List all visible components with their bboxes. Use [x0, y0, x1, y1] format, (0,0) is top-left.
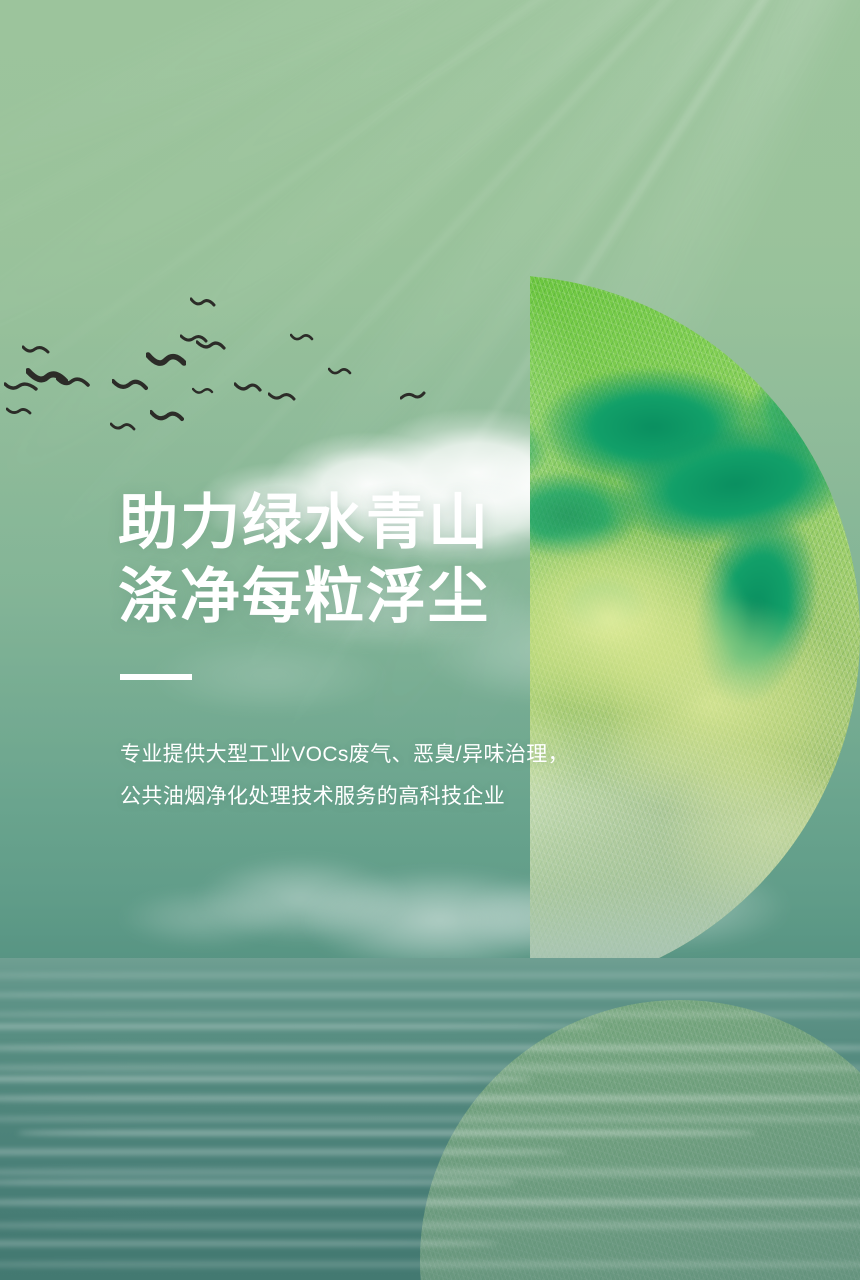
water-ripple — [0, 1114, 860, 1124]
globe-reflection — [420, 1000, 860, 1280]
subtitle-line-2: 公共油烟净化处理技术服务的高科技企业 — [120, 778, 678, 816]
bird-icon — [290, 332, 314, 348]
water-ripple — [0, 972, 860, 979]
cloud-low-d — [118, 888, 288, 948]
bird-icon — [192, 386, 214, 400]
water-ripple — [17, 1130, 757, 1136]
headline-line-2: 涤净每粒浮尘 — [118, 560, 678, 634]
headline-line-1: 助力绿水青山 — [118, 486, 678, 560]
divider-rule — [120, 674, 192, 680]
bird-icon — [22, 344, 50, 362]
bird-icon — [400, 390, 426, 406]
water-ripple — [0, 1220, 860, 1231]
reflection-fade — [420, 1000, 860, 1280]
bird-icon — [110, 420, 136, 438]
water-ripple — [0, 1198, 860, 1207]
water-ripple — [0, 1094, 860, 1103]
poster-canvas: 助力绿水青山 涤净每粒浮尘 专业提供大型工业VOCs废气、恶臭/异味治理， 公共… — [0, 0, 860, 1280]
subtitle-line-1: 专业提供大型工业VOCs废气、恶臭/异味治理， — [120, 736, 678, 774]
water-surface — [0, 958, 860, 1280]
bird-icon — [56, 374, 90, 396]
water-ripple — [0, 1166, 860, 1179]
bird-icon — [6, 406, 32, 422]
bird-icon — [190, 296, 216, 316]
water-ripple — [0, 1010, 860, 1019]
bird-flock — [0, 330, 470, 460]
water-ripple — [0, 1260, 860, 1269]
bird-icon — [150, 408, 184, 430]
bird-icon — [112, 376, 148, 400]
copy-block: 助力绿水青山 涤净每粒浮尘 专业提供大型工业VOCs废气、恶臭/异味治理， 公共… — [118, 486, 678, 816]
bird-icon — [234, 380, 262, 400]
globe-continent — [744, 371, 854, 461]
water-ripple — [0, 1062, 860, 1074]
water-ripple — [0, 992, 860, 998]
water-ripple — [0, 1044, 860, 1052]
bird-icon — [146, 350, 186, 380]
bird-icon — [268, 390, 296, 408]
bird-icon — [328, 366, 352, 382]
bird-icon — [196, 338, 226, 358]
